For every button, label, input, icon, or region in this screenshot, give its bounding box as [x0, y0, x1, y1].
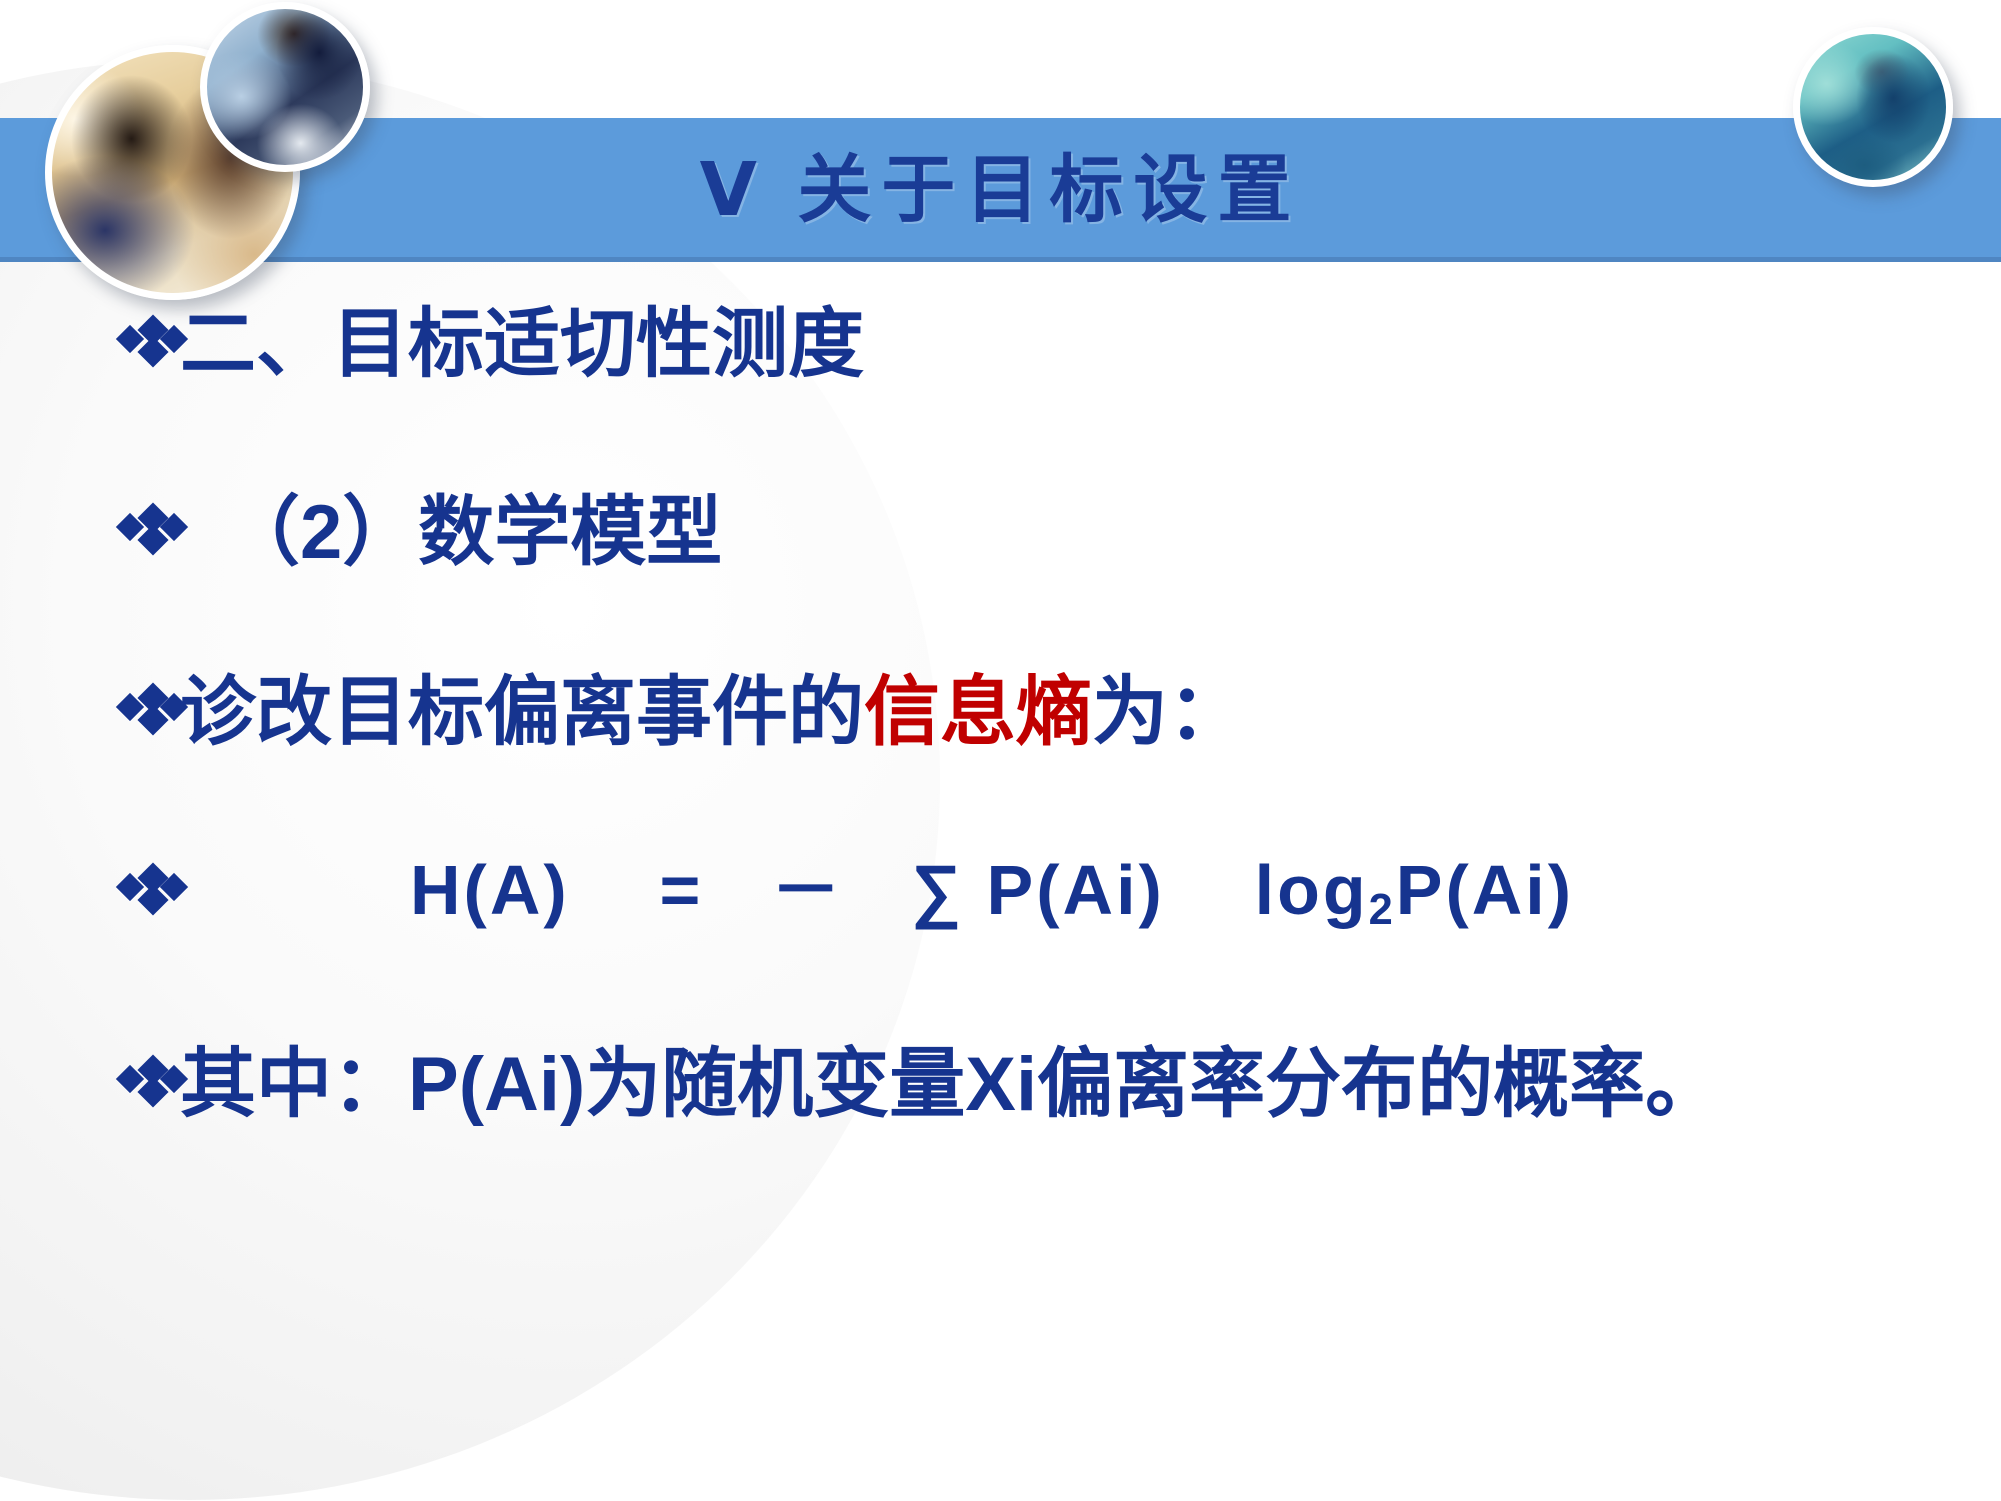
bullet-line-3-text-after: 为：	[1092, 650, 1244, 760]
bullet-line-1-text: 二、目标适切性测度	[180, 282, 864, 392]
formula-log: log	[1255, 851, 1369, 929]
presentation-slide: Ⅴ 关于目标设置 二、目标适切性测度 （2）数学模型	[0, 0, 2001, 1501]
bullet-line-3-text-before: 诊改目标偏离事件的	[180, 650, 864, 760]
slide-body: 二、目标适切性测度 （2）数学模型 诊改目标偏离事件的 信息熵 为：	[0, 262, 2001, 1501]
bullet-line-1: 二、目标适切性测度	[118, 282, 864, 392]
formula-space	[726, 851, 748, 929]
formula-minus: －	[771, 851, 844, 929]
diamond-bullet-icon	[118, 847, 180, 923]
bullet-line-5-text: 其中：P(Ai)为随机变量Xi偏离率分布的概率。	[180, 1022, 1721, 1132]
formula-equals: =	[660, 851, 704, 929]
diamond-bullet-icon	[118, 487, 180, 563]
diamond-bullet-icon	[118, 299, 180, 375]
bullet-line-3-text-highlight: 信息熵	[864, 650, 1092, 760]
entropy-formula: H(A) = － ∑ P(Ai) log2P(Ai)	[410, 834, 1574, 935]
bullet-line-3: 诊改目标偏离事件的 信息熵 为：	[118, 650, 1244, 760]
photo-businessmen-handshake	[200, 2, 370, 172]
formula-sigma: ∑	[911, 851, 964, 929]
bullet-line-2: （2）数学模型	[118, 470, 722, 580]
formula-space	[866, 851, 888, 929]
formula-lhs: H(A)	[410, 851, 570, 929]
diamond-bullet-icon	[118, 1039, 180, 1115]
bullet-line-5: 其中：P(Ai)为随机变量Xi偏离率分布的概率。	[118, 1022, 1721, 1132]
formula-log-base: 2	[1369, 886, 1396, 934]
photo-presenter-at-whiteboard	[1793, 27, 1953, 187]
formula-log-argument: P(Ai)	[1396, 851, 1574, 929]
bullet-line-4-formula: H(A) = － ∑ P(Ai) log2P(Ai)	[118, 834, 1574, 935]
diamond-bullet-icon	[118, 667, 180, 743]
formula-probability: P(Ai)	[987, 851, 1165, 929]
bullet-line-2-text: （2）数学模型	[224, 470, 722, 580]
formula-space	[1187, 851, 1232, 929]
formula-space	[592, 851, 637, 929]
